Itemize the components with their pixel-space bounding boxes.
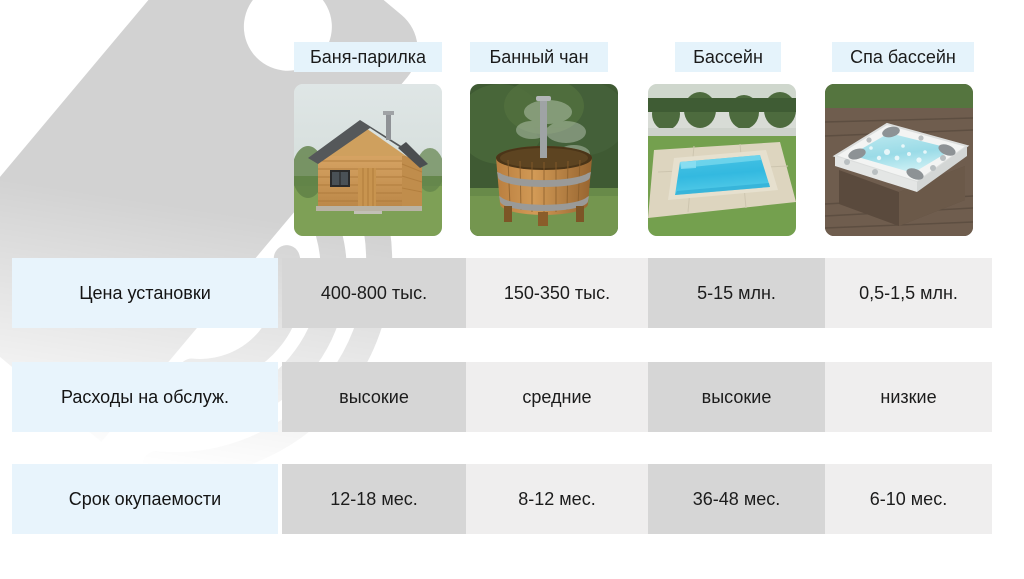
table-row: Цена установки 400-800 тыс. 150-350 тыс.… [0, 258, 1024, 328]
column-header-banya: Баня-парилка [294, 42, 442, 72]
cell-maintenance-spa-basseyn: низкие [825, 362, 992, 432]
cell-payback-spa-basseyn: 6-10 мес. [825, 464, 992, 534]
row-label-maintenance: Расходы на обслуж. [12, 362, 278, 432]
cell-maintenance-banya: высокие [282, 362, 466, 432]
wooden-hot-tub-photo [470, 84, 618, 236]
cell-maintenance-bannyy-chan: средние [466, 362, 648, 432]
spa-jacuzzi-photo [825, 84, 973, 236]
cell-maintenance-basseyn: высокие [648, 362, 825, 432]
table-image-row [0, 84, 1024, 236]
cell-payback-banya: 12-18 мес. [282, 464, 466, 534]
row-label-payback: Срок окупаемости [12, 464, 278, 534]
cell-payback-bannyy-chan: 8-12 мес. [466, 464, 648, 534]
table-header-row: Баня-парилка Банный чан Бассейн Спа басс… [0, 42, 1024, 72]
cell-price-spa-basseyn: 0,5-1,5 млн. [825, 258, 992, 328]
cell-payback-basseyn: 36-48 мес. [648, 464, 825, 534]
column-header-spa-basseyn: Спа бассейн [832, 42, 974, 72]
cell-price-banya: 400-800 тыс. [282, 258, 466, 328]
outdoor-swimming-pool-photo [648, 84, 796, 236]
cell-price-basseyn: 5-15 млн. [648, 258, 825, 328]
comparison-table: Баня-парилка Банный чан Бассейн Спа басс… [0, 0, 1024, 579]
column-header-bannyy-chan: Банный чан [470, 42, 608, 72]
log-sauna-cabin-photo [294, 84, 442, 236]
table-row: Срок окупаемости 12-18 мес. 8-12 мес. 36… [0, 464, 1024, 534]
cell-price-bannyy-chan: 150-350 тыс. [466, 258, 648, 328]
row-label-price: Цена установки [12, 258, 278, 328]
table-row: Расходы на обслуж. высокие средние высок… [0, 362, 1024, 432]
column-header-basseyn: Бассейн [675, 42, 781, 72]
